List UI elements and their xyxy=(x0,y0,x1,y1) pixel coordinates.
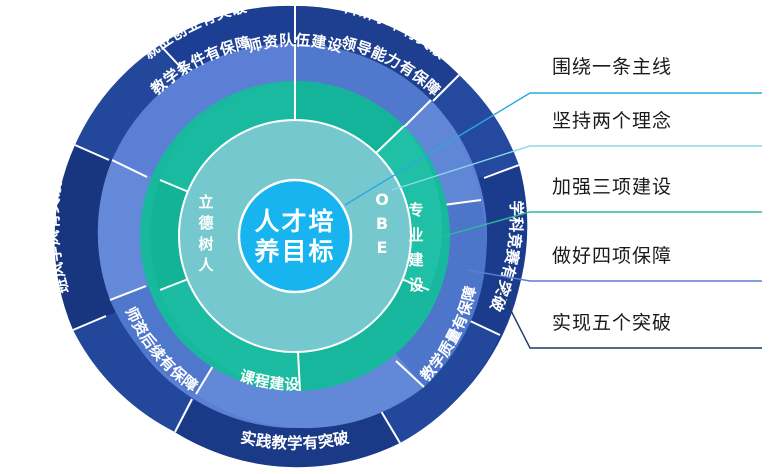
callout-label-4: 做好四项保障 xyxy=(552,241,672,268)
callout-label-2: 坚持两个理念 xyxy=(552,106,672,133)
inner-right-label-c2: 业 xyxy=(408,226,423,244)
center-circle-group: 人才培 养目标 xyxy=(239,180,351,292)
core-left-label-c3: 树 xyxy=(198,235,213,253)
callout-label-1: 围绕一条主线 xyxy=(552,52,672,79)
core-left-label-c4: 人 xyxy=(198,256,214,274)
center-title-line2: 养目标 xyxy=(253,237,335,266)
core-left-label-c1: 立 xyxy=(198,193,213,211)
inner-right-label-c3: 建 xyxy=(408,251,424,269)
core-right-label-o: O xyxy=(375,190,389,209)
callout-label-3: 加强三项建设 xyxy=(552,172,672,199)
core-right-label-b: B xyxy=(376,214,388,233)
inner-right-label-c1: 专 xyxy=(408,201,423,219)
center-title-line1: 人才培 xyxy=(254,207,335,236)
inner-right-label-c4: 设 xyxy=(408,276,423,294)
callout-label-5: 实现五个突破 xyxy=(552,308,672,335)
core-left-label-c2: 德 xyxy=(198,214,213,232)
core-right-label-e: E xyxy=(377,238,388,257)
diagram-canvas: 人才培 养目标 立 德 树 人 O B E 师资队伍建设 课程建设 专 业 建 … xyxy=(0,0,773,474)
